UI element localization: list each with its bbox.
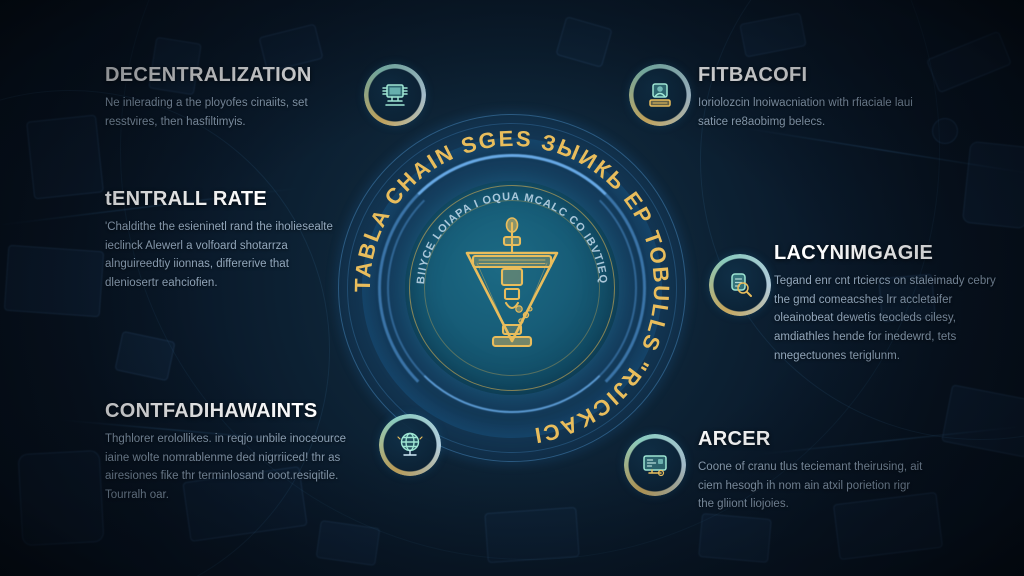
bg-connector-line	[742, 127, 1024, 173]
chip-processor-icon	[381, 82, 409, 108]
feature-body: Tegand enr cnt rtciercs on staleimady ce…	[774, 272, 998, 365]
bg-device-shape	[932, 118, 958, 144]
feature-decentralization: DECENTRALIZATION Ne inlerading a the plo…	[105, 64, 357, 131]
globe-network-icon-badge[interactable]	[381, 416, 439, 474]
bg-device-shape	[18, 450, 105, 546]
feature-heading: CONTFADIHAWAINTS	[105, 400, 353, 423]
feature-body: Thghlorer erolollikes. in reqjo unbile i…	[105, 430, 353, 505]
feature-heading: LACYNIMGAGIE	[774, 242, 998, 265]
feature-contfadihawaints: CONTFADIHAWAINTS Thghlorer erolollikes. …	[105, 400, 353, 505]
feature-body: Ioriolozcin lnoiwacniation with rfiacial…	[698, 94, 916, 131]
magnifier-document-icon	[726, 271, 754, 299]
bg-device-shape	[739, 12, 806, 57]
feature-heading: DECENTRALIZATION	[105, 64, 357, 87]
magnifier-document-icon-badge[interactable]	[711, 256, 769, 314]
monitor-screen-icon-badge[interactable]	[626, 436, 684, 494]
feature-lacynimgagie: LACYNIMGAGIE Tegand enr cnt rtciercs on …	[774, 242, 998, 365]
feature-arcer: ARCER Coone of cranu tlus teciemant thei…	[698, 428, 924, 514]
person-document-icon	[646, 81, 674, 109]
feature-body: Ne inlerading a the ployofes cinaiits, s…	[105, 94, 357, 131]
feature-tentrall-rate: tENTRALL RATE 'Chaldithe the esieninetl …	[105, 188, 337, 293]
infographic-canvas: YOPI - BONAL STABLA CHAIN SGES ЗЫИКЬ EP …	[0, 0, 1024, 576]
feature-body: Coone of cranu tlus teciemant theirusing…	[698, 458, 924, 514]
feature-fitbacofi: FITBACOFI Ioriolozcin lnoiwacniation wit…	[698, 64, 916, 131]
bg-device-shape	[698, 513, 772, 563]
bg-device-shape	[941, 384, 1024, 457]
feature-body: 'Chaldithe the esieninetl rand the iholi…	[105, 218, 337, 293]
person-document-icon-badge[interactable]	[631, 66, 689, 124]
bg-device-shape	[26, 115, 104, 200]
bg-device-shape	[114, 331, 175, 381]
chip-processor-icon-badge[interactable]	[366, 66, 424, 124]
feature-heading: tENTRALL RATE	[105, 188, 337, 211]
central-emblem: YOPI - BONAL STABLA CHAIN SGES ЗЫИКЬ EP …	[332, 108, 692, 468]
monitor-screen-icon	[641, 452, 669, 478]
feature-heading: FITBACOFI	[698, 64, 916, 87]
bg-device-shape	[4, 245, 104, 318]
globe-network-icon	[396, 431, 424, 459]
feature-heading: ARCER	[698, 428, 924, 451]
bg-device-shape	[555, 16, 612, 68]
bg-device-shape	[316, 520, 381, 566]
bg-device-shape	[484, 507, 579, 563]
bg-device-shape	[926, 31, 1012, 94]
bg-device-shape	[962, 141, 1024, 229]
golden-trophy-emblem-icon	[447, 213, 577, 363]
